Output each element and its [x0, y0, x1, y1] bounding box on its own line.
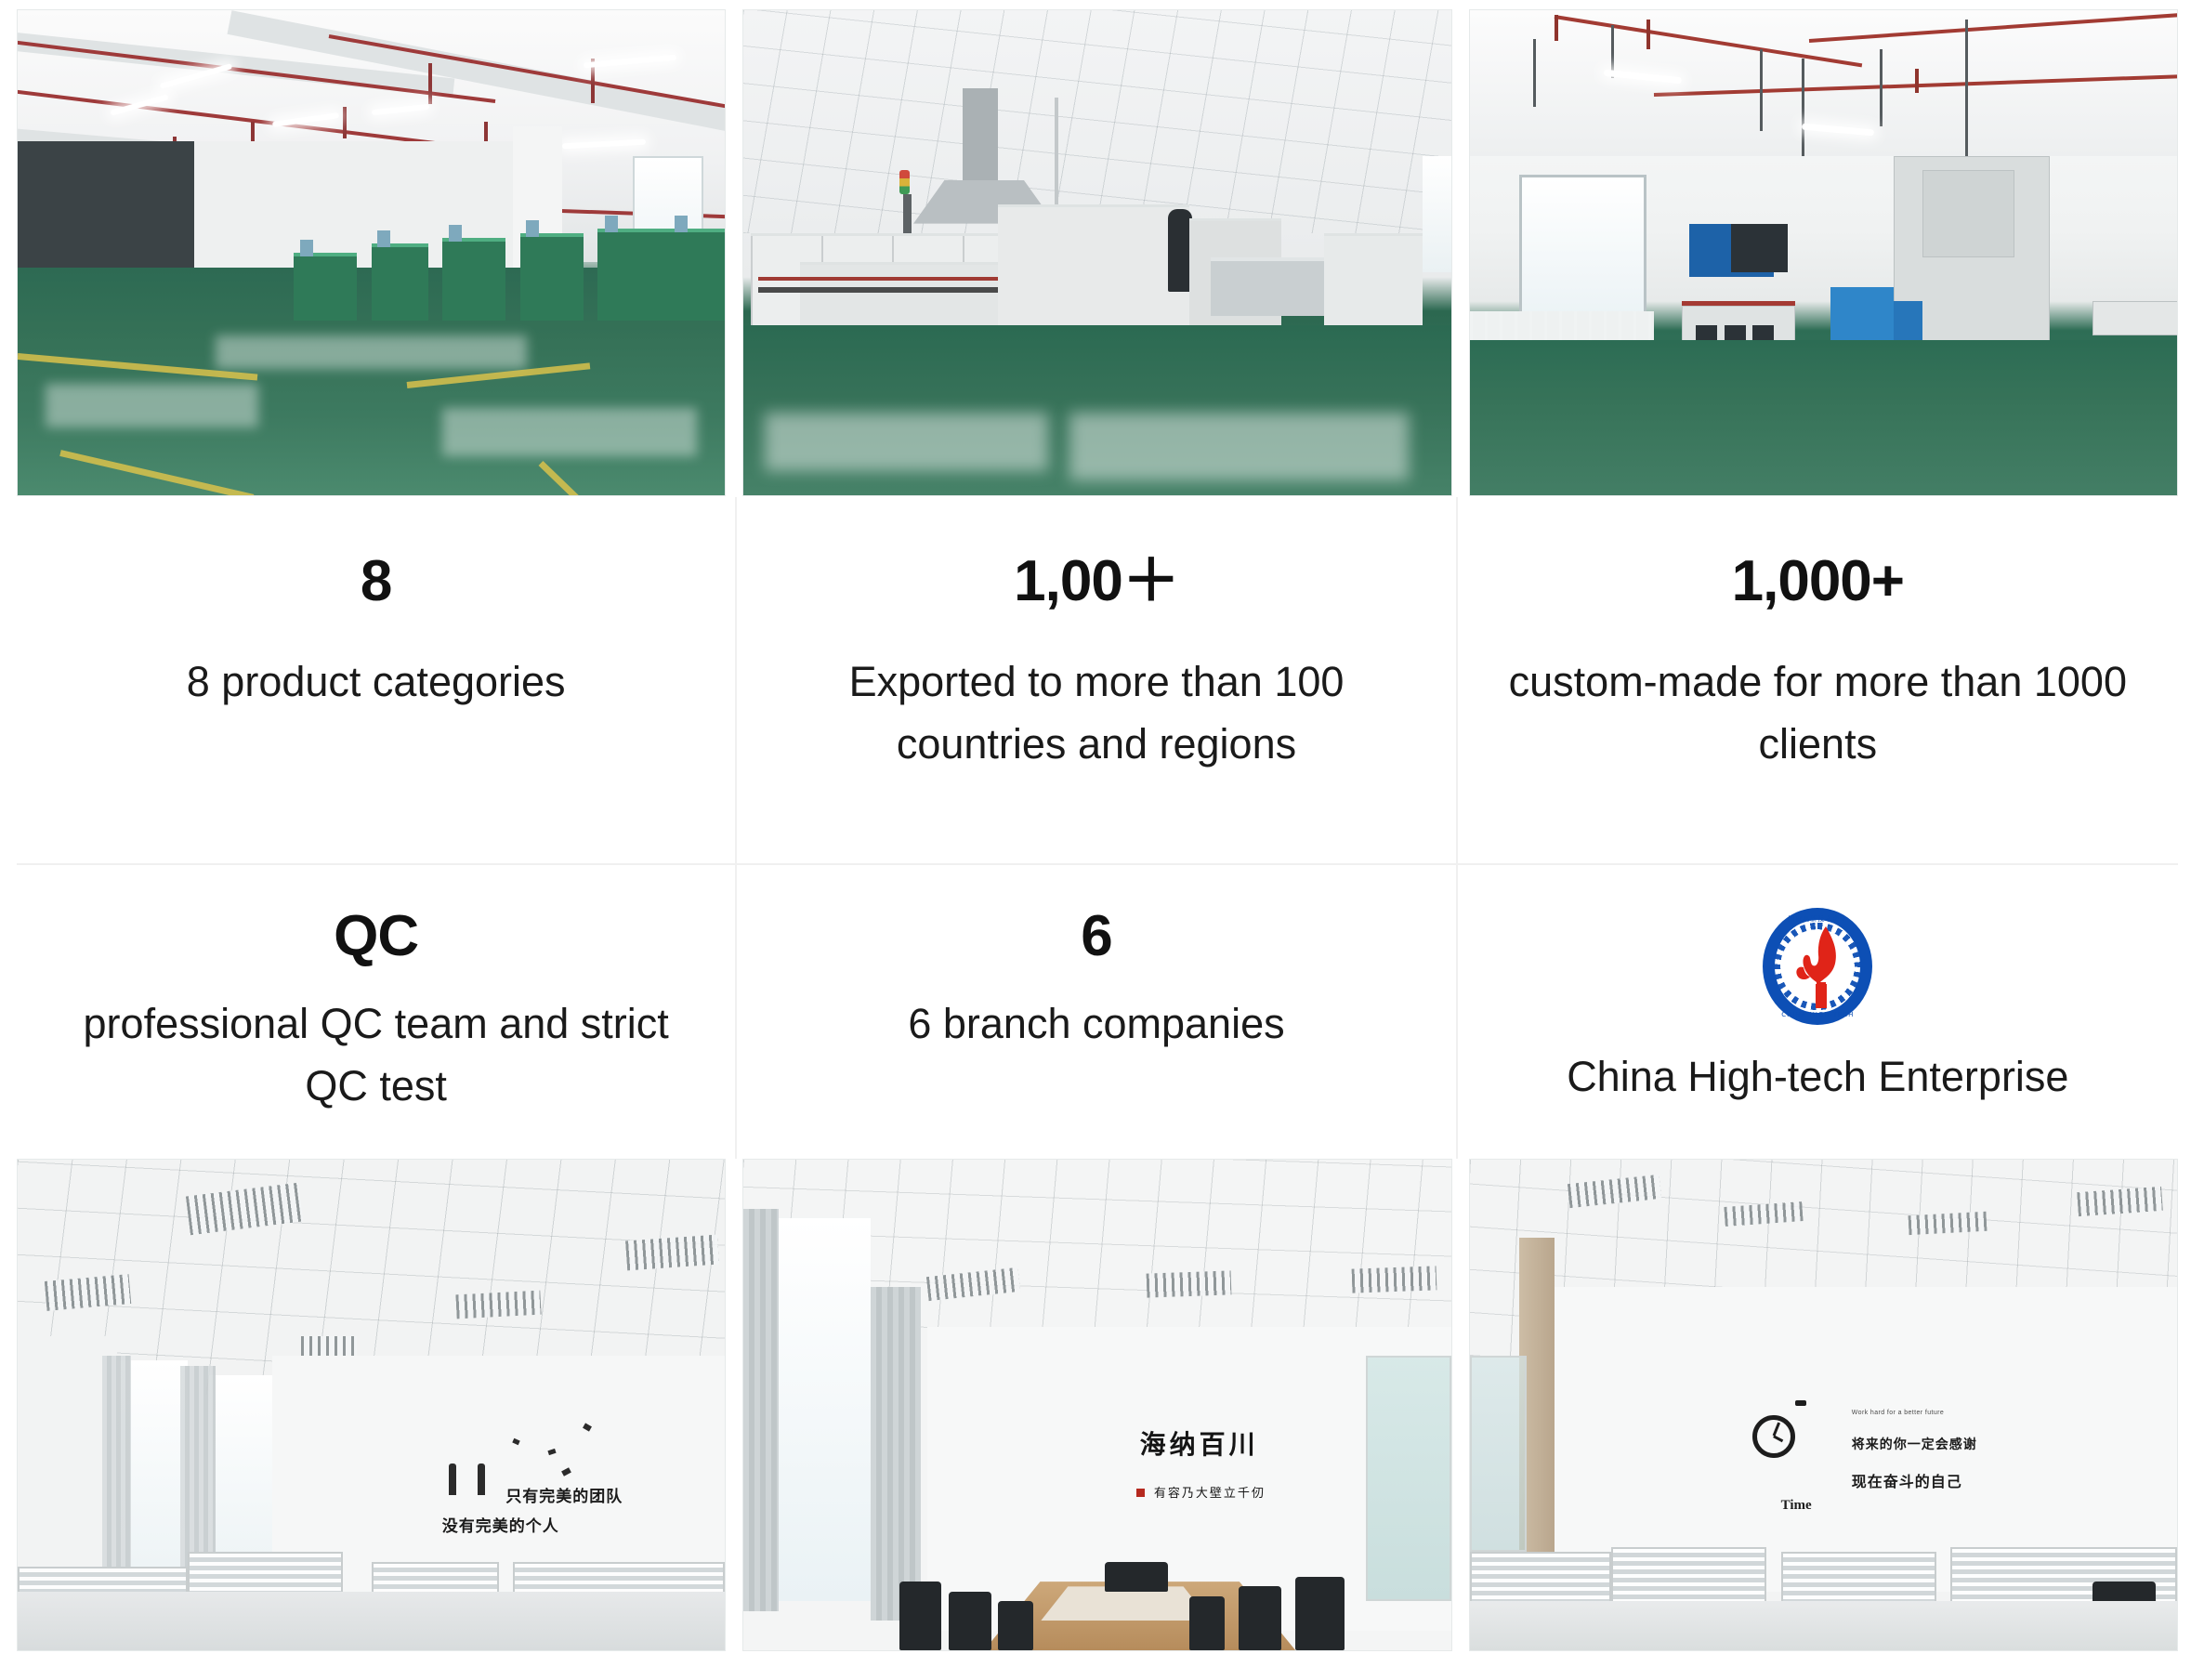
assembly-machine — [372, 243, 428, 322]
photo-office-workstations: Work hard for a better future 将来的你一定会感谢 … — [1469, 1159, 2178, 1651]
meeting-chair — [1295, 1577, 1345, 1650]
stat-cell-export-countries: 1,00＋ Exported to more than 100 countrie… — [737, 497, 1457, 865]
glass-partition — [1366, 1356, 1450, 1601]
meeting-chair — [1105, 1562, 1169, 1592]
sprinkler-drop — [428, 63, 432, 104]
wall-decal-line1-text: 只有完美的团队 — [505, 1488, 623, 1506]
ceiling-panel-light — [1352, 1267, 1437, 1294]
assembly-machine — [597, 229, 668, 321]
wall-decal-line2-text: 现在奋斗的自己 — [1852, 1473, 1962, 1490]
meeting-chair — [1239, 1586, 1281, 1650]
office-window — [209, 1375, 273, 1562]
trophy-decal — [449, 1463, 456, 1495]
stat-value: 1,000+ — [1732, 553, 1904, 610]
wall-decal-time-word-text: Time — [1781, 1498, 1812, 1513]
ceiling-panel-light — [1908, 1212, 1987, 1235]
window-curtain — [743, 1209, 779, 1611]
wall-calligraphy-text: 海纳百川 — [1140, 1429, 1259, 1460]
table-centerpiece — [1041, 1586, 1211, 1621]
stat-description: 6 branch companies — [908, 993, 1284, 1056]
photo-open-plan-office: 只有完美的团队 没有完美的个人 Open plan office with cu… — [17, 1159, 726, 1651]
trophy-decal — [478, 1463, 485, 1495]
stat-value: 1,00＋ — [1014, 553, 1179, 610]
wall-decal-english: Work hard for a better future — [1852, 1410, 1944, 1416]
ceiling-panel-light — [301, 1336, 358, 1356]
china-high-tech-enterprise-seal-icon: 国家高新技术企业 CHINA HIGH-TECH — [1763, 908, 1872, 1025]
ceiling-panel-light — [1147, 1271, 1232, 1299]
wall-decal-line2: 现在奋斗的自己 — [1852, 1469, 1962, 1491]
company-stats-grid: 8 8 product categories 1,00＋ Exported to… — [17, 497, 2178, 1159]
hanger-rod — [1533, 39, 1536, 107]
stat-description: Exported to more than 100 countries and … — [780, 651, 1412, 775]
wall-decal-line1-text: 将来的你一定会感谢 — [1852, 1437, 1977, 1452]
stat-cell-high-tech-certification: 国家高新技术企业 CHINA HIGH-TECH China High-tech… — [1458, 865, 2178, 1159]
wall-decal-line1: 只有完美的团队 — [505, 1483, 623, 1506]
window-curtain — [871, 1287, 920, 1621]
flame-icon — [1789, 925, 1846, 1010]
bottom-photo-row: 只有完美的团队 没有完美的个人 Open plan office with cu… — [17, 1159, 2178, 1651]
meeting-chair — [899, 1582, 942, 1650]
stopwatch-icon — [1752, 1415, 1795, 1458]
assembly-machine — [668, 229, 725, 321]
wall-decal-line2-text: 没有完美的个人 — [442, 1517, 559, 1536]
sprinkler-drop — [1646, 20, 1650, 49]
cooling-grille — [1731, 224, 1788, 272]
top-photo-row: Production workshop with green epoxy flo… — [17, 9, 2178, 496]
stat-cell-quality-control: QC professional QC team and strict QC te… — [17, 865, 737, 1159]
status-signal-lamp — [899, 170, 910, 194]
stopwatch-crown — [1795, 1400, 1806, 1406]
office-floor — [1470, 1601, 2177, 1650]
floor-reflection — [442, 408, 697, 456]
wall-calligraphy: 海纳百川 — [1140, 1424, 1259, 1462]
floor-reflection — [46, 384, 257, 427]
stat-value: 8 — [361, 553, 391, 610]
calligraphy-seal — [1136, 1489, 1145, 1497]
furnace-room-ceiling — [1470, 10, 2177, 156]
stat-description: China High-tech Enterprise — [1567, 1053, 2068, 1101]
assembly-machine — [294, 253, 358, 321]
wall-decal-time-word: Time — [1781, 1498, 1812, 1514]
meeting-chair — [1189, 1596, 1225, 1650]
ceiling-panel-light — [455, 1290, 542, 1319]
floor-reflection — [1069, 413, 1409, 480]
photo-furnace-control-station: Vertical furnace with electrical control… — [1469, 9, 2178, 496]
wall-calligraphy-sub: 有容乃大壁立千仞 — [1154, 1483, 1266, 1501]
extraction-duct — [963, 88, 998, 195]
oven-room-ceiling — [743, 10, 1450, 233]
hanger-rod — [1802, 59, 1804, 155]
photo-tunnel-oven-line: Tunnel oven curing line with stainless e… — [742, 9, 1451, 496]
seal-ring-text-top: 国家高新技术企业 — [1763, 914, 1872, 924]
hanger-rod — [1880, 49, 1883, 127]
stat-description: custom-made for more than 1000 clients — [1501, 651, 2135, 775]
stat-cell-custom-clients: 1,000+ custom-made for more than 1000 cl… — [1458, 497, 2178, 865]
furnace-room-floor — [1470, 340, 2177, 495]
meeting-chair — [949, 1592, 991, 1650]
glass-partition — [1470, 1356, 1527, 1552]
stat-description: professional QC team and strict QC test — [59, 993, 692, 1117]
floor-reflection — [765, 413, 1048, 471]
furnace-room-window — [1519, 175, 1646, 330]
capability-showcase-page: Production workshop with green epoxy flo… — [0, 0, 2204, 1680]
wall-calligraphy-sub-text: 有容乃大壁立千仞 — [1154, 1487, 1266, 1501]
side-table — [2092, 301, 2178, 335]
side-equipment — [1324, 233, 1423, 330]
wall-decal-line1: 将来的你一定会感谢 — [1852, 1435, 1977, 1453]
stainless-work-table — [1211, 257, 1324, 316]
window-curtain — [180, 1366, 216, 1577]
floor-reflection — [216, 335, 527, 370]
assembly-machine — [520, 233, 584, 321]
stat-value: QC — [334, 908, 418, 965]
stat-cell-product-categories: 8 8 product categories — [17, 497, 737, 865]
sprinkler-drop — [1915, 69, 1919, 93]
meeting-chair — [998, 1601, 1033, 1650]
stat-description: 8 product categories — [187, 651, 566, 714]
wall-decal-english-text: Work hard for a better future — [1852, 1410, 1944, 1416]
seal-ring-text-bottom: CHINA HIGH-TECH — [1763, 1011, 1872, 1018]
hanger-rod — [1965, 20, 1968, 165]
oven-room-window — [1423, 156, 1451, 272]
window-curtain — [102, 1356, 130, 1582]
workshop-dark-room — [18, 141, 202, 277]
sprinkler-drop — [343, 107, 347, 138]
sprinkler-drop — [1555, 15, 1558, 41]
photo-meeting-room: 海纳百川 有容乃大壁立千仞 Long meeting room with woo… — [742, 1159, 1451, 1651]
stat-value: 6 — [1081, 908, 1111, 965]
furnace-head — [1922, 170, 2014, 257]
stat-cell-branch-companies: 6 6 branch companies — [737, 865, 1457, 1159]
wall-decal-line2: 没有完美的个人 — [442, 1513, 559, 1536]
photo-production-workshop: Production workshop with green epoxy flo… — [17, 9, 726, 496]
assembly-machine — [442, 238, 506, 321]
hanger-rod — [1760, 49, 1763, 132]
office-floor — [18, 1592, 725, 1650]
